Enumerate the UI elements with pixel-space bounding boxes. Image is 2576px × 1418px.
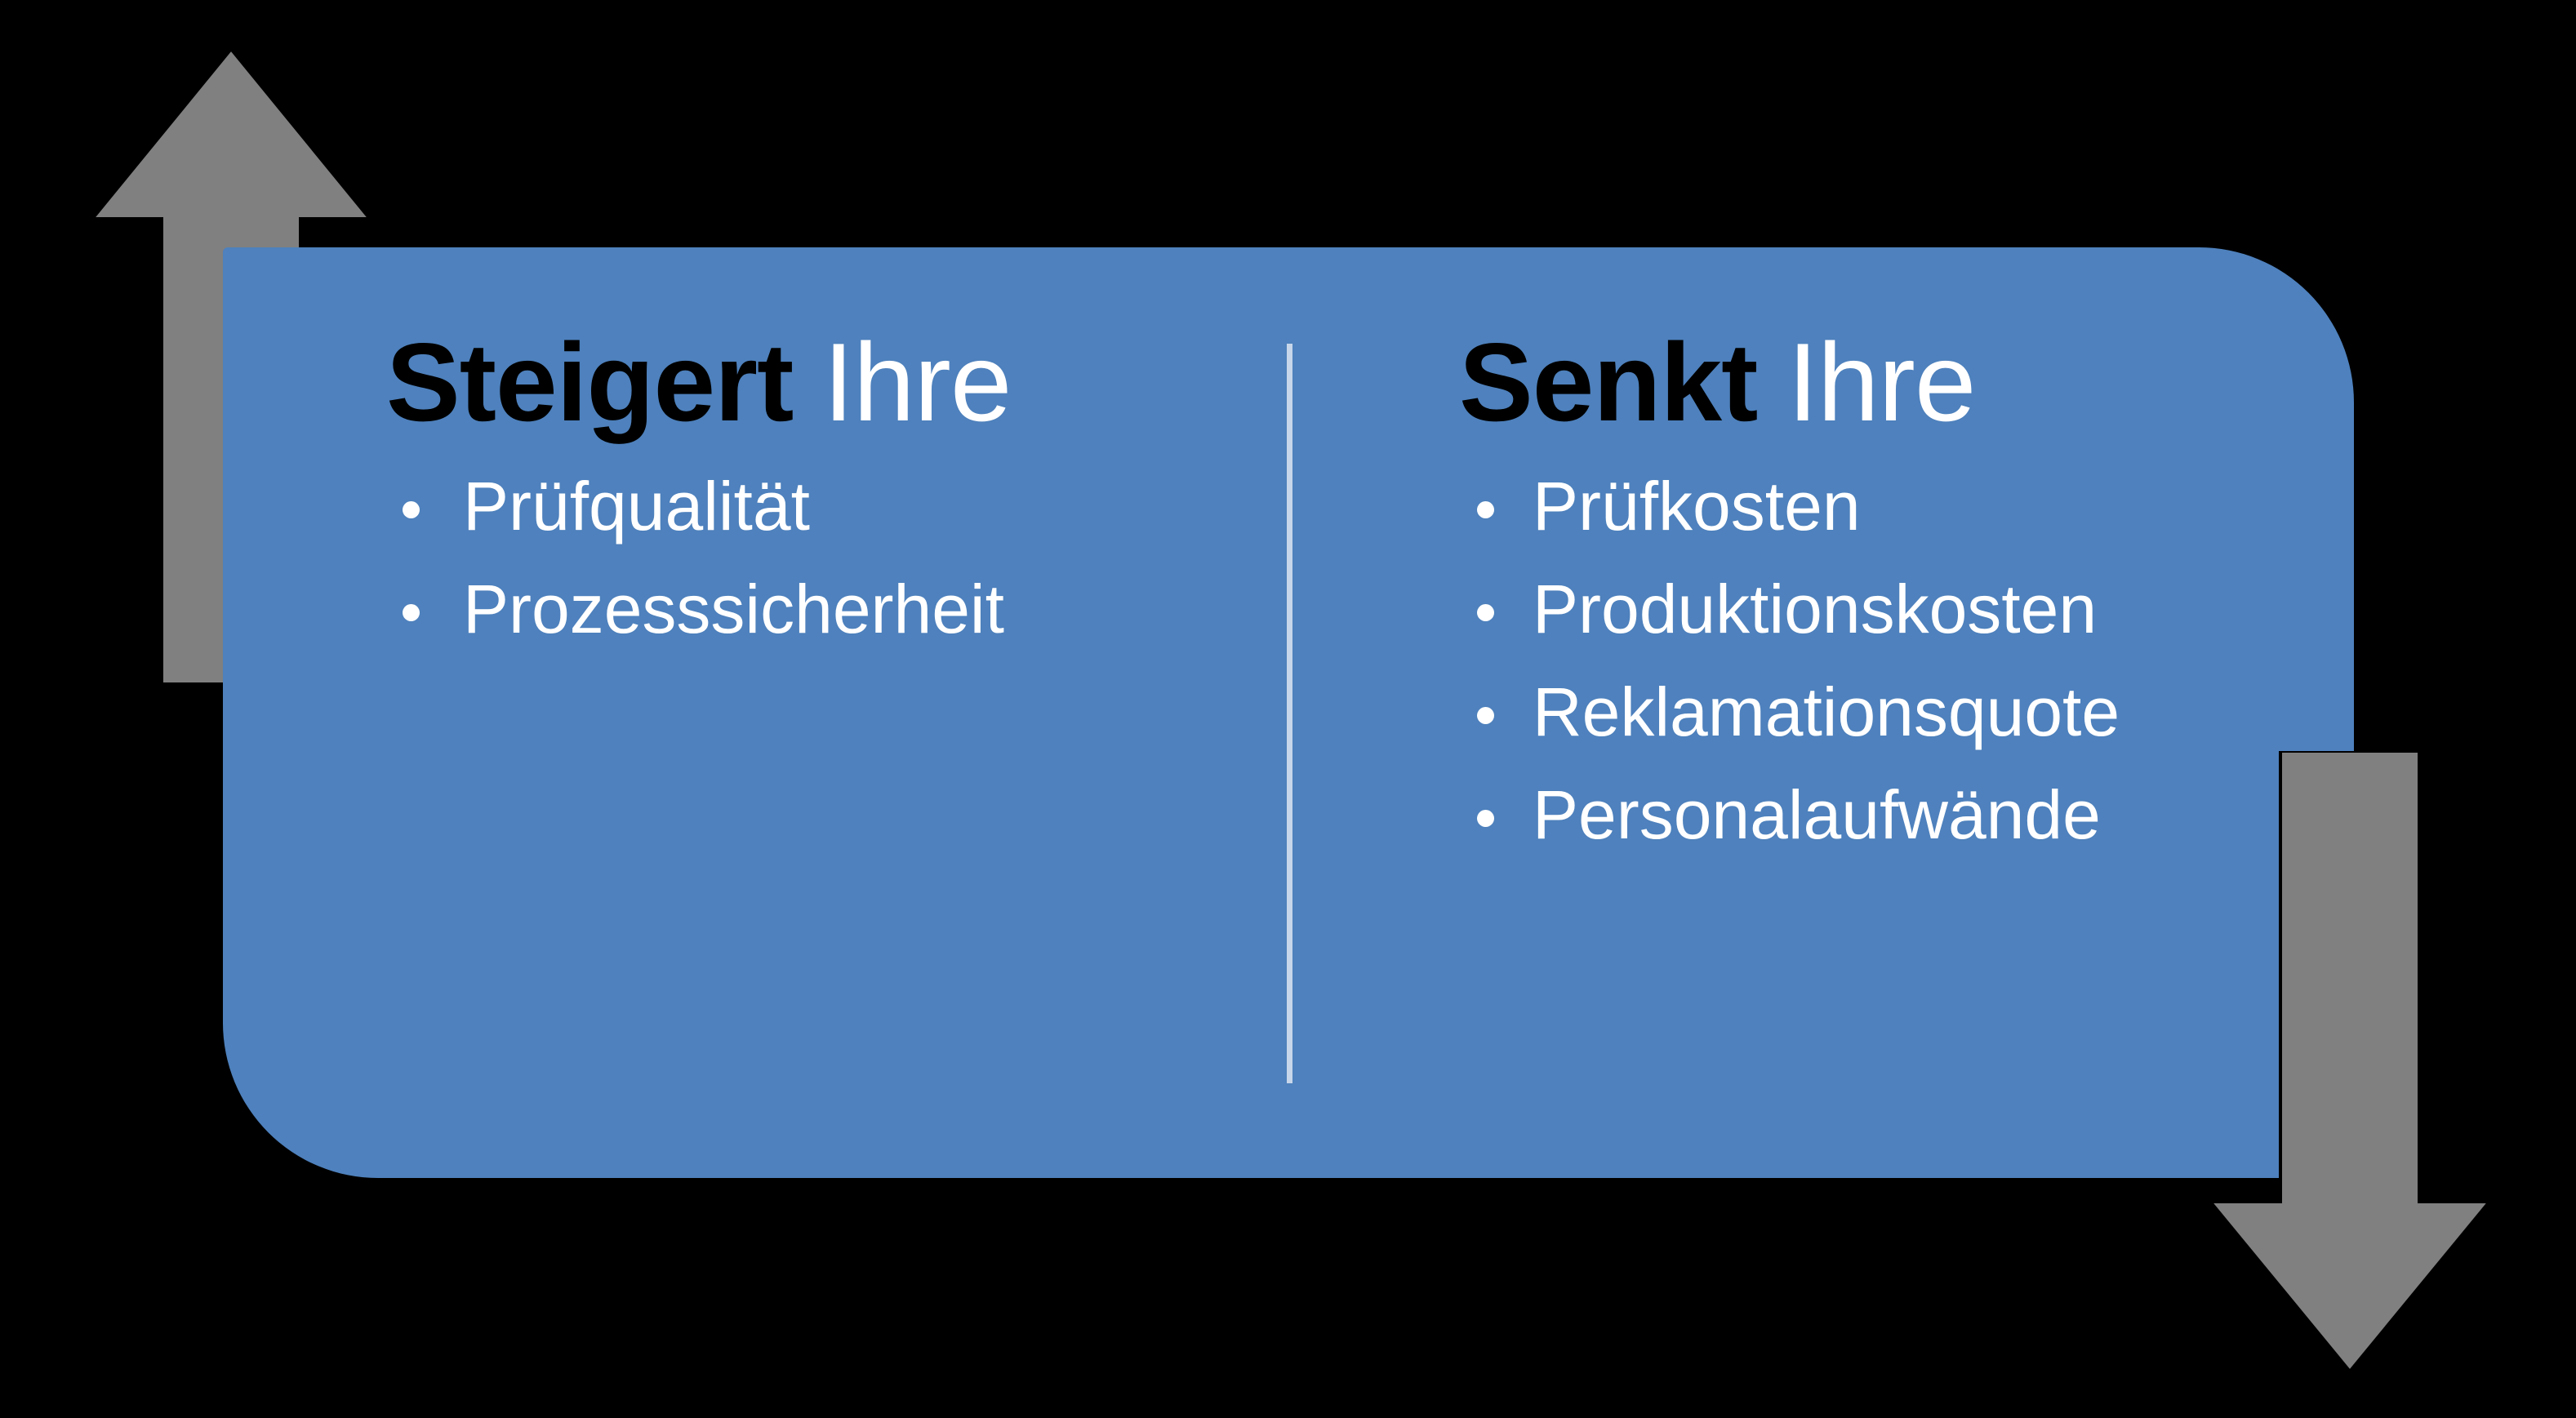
bullet-dot-icon (403, 501, 420, 518)
bullet-dot-icon (403, 604, 420, 621)
down-arrow-icon (2210, 751, 2489, 1371)
list-item: Prüfqualität (386, 472, 1244, 540)
down-arrow-shape (2210, 751, 2489, 1371)
bullet-dot-icon (1477, 707, 1494, 724)
bullet-dot-icon (1477, 604, 1494, 621)
list-item-label: Prozesssicherheit (463, 571, 1004, 647)
column-decrease-heading-rest: Ihre (1757, 320, 1975, 444)
list-item: Prozesssicherheit (386, 575, 1244, 643)
column-increase-heading: Steigert Ihre (386, 323, 1244, 441)
list-item-label: Personalaufwände (1533, 776, 2101, 853)
column-divider (1287, 344, 1292, 1083)
bullet-dot-icon (1477, 810, 1494, 827)
bullet-dot-icon (1477, 501, 1494, 518)
list-item-label: Prüfqualität (463, 468, 810, 545)
list-item-label: Prüfkosten (1533, 468, 1861, 545)
list-item: Produktionskosten (1459, 575, 2325, 643)
column-decrease: Senkt Ihre Prüfkosten Produktionskosten … (1459, 323, 2325, 883)
column-increase-bullet-list: Prüfqualität Prozesssicherheit (386, 472, 1244, 643)
list-item: Reklamationsquote (1459, 678, 2325, 746)
list-item-label: Reklamationsquote (1533, 673, 2120, 750)
column-decrease-heading: Senkt Ihre (1459, 323, 2325, 441)
list-item: Prüfkosten (1459, 472, 2325, 540)
column-increase-heading-rest: Ihre (793, 320, 1011, 444)
list-item: Personalaufwände (1459, 780, 2325, 849)
slide-canvas: Steigert Ihre Prüfqualität Prozesssicher… (0, 0, 2576, 1418)
column-decrease-bullet-list: Prüfkosten Produktionskosten Reklamation… (1459, 472, 2325, 849)
column-increase-heading-keyword: Steigert (386, 320, 793, 444)
column-increase: Steigert Ihre Prüfqualität Prozesssicher… (386, 323, 1244, 678)
column-decrease-heading-keyword: Senkt (1459, 320, 1757, 444)
list-item-label: Produktionskosten (1533, 571, 2097, 647)
